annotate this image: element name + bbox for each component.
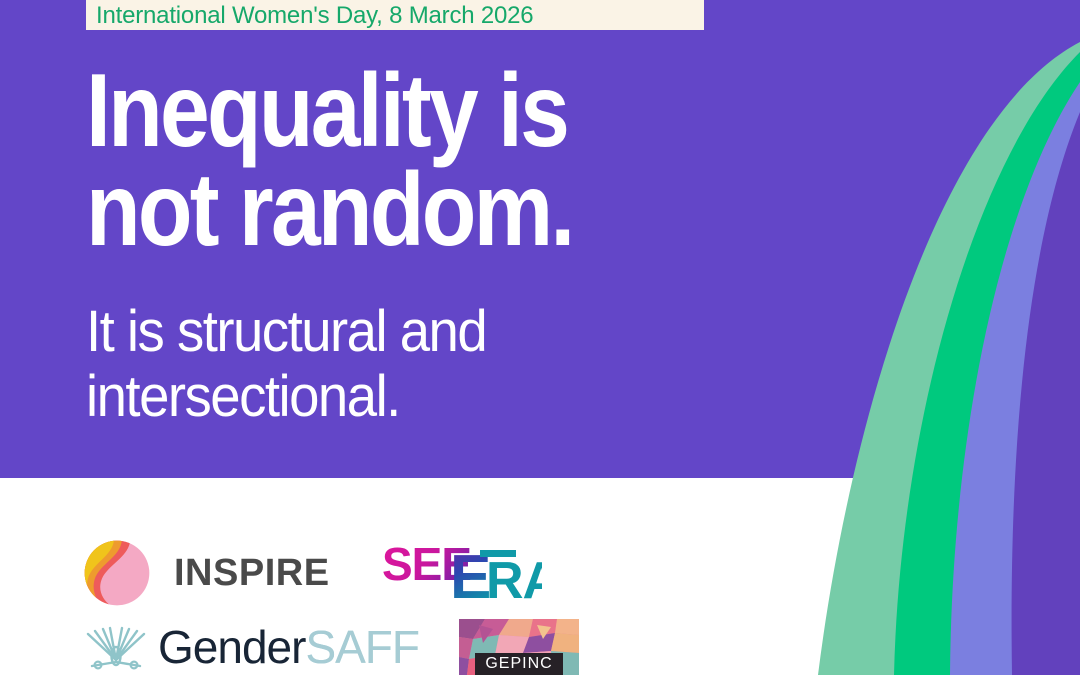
logo-gepinc[interactable]: GEPINC [459, 619, 579, 675]
gendersaff-wing-icon [84, 620, 148, 674]
page-title: Inequality is not random. [86, 62, 671, 260]
page-subtitle: It is structural and intersectional. [86, 300, 688, 430]
gepinc-label-box: GEPINC [475, 653, 563, 675]
gendersaff-word-gender: Gender [158, 621, 305, 673]
svg-text:RA: RA [486, 552, 542, 604]
event-date-banner: International Women's Day, 8 March 2026 [86, 0, 704, 30]
event-date-text: International Women's Day, 8 March 2026 [96, 4, 533, 28]
inspire-wordmark: INSPIRE [174, 552, 330, 595]
headline-line-1: Inequality is [86, 62, 671, 161]
subheading-line-2: intersectional. [86, 365, 688, 430]
logo-row-top: INSPIRE [84, 532, 704, 614]
partner-logo-strip: INSPIRE [84, 532, 704, 675]
seeera-wordmark-icon: SEE E RA [382, 542, 542, 604]
headline-line-2: not random. [86, 161, 671, 260]
gendersaff-word-saff: SAFF [305, 621, 419, 673]
logo-gendersaff[interactable]: GenderSAFF [84, 620, 419, 674]
logo-row-bottom: GenderSAFF [84, 616, 704, 675]
gepinc-label-text: GEPINC [485, 656, 552, 672]
gendersaff-wordmark: GenderSAFF [158, 624, 419, 670]
poster-canvas: International Women's Day, 8 March 2026 … [0, 0, 1080, 675]
inspire-swirl-icon [84, 540, 150, 606]
logo-inspire[interactable]: INSPIRE [84, 540, 330, 606]
logo-seeera[interactable]: SEE E RA [382, 540, 542, 606]
subheading-line-1: It is structural and [86, 300, 688, 365]
